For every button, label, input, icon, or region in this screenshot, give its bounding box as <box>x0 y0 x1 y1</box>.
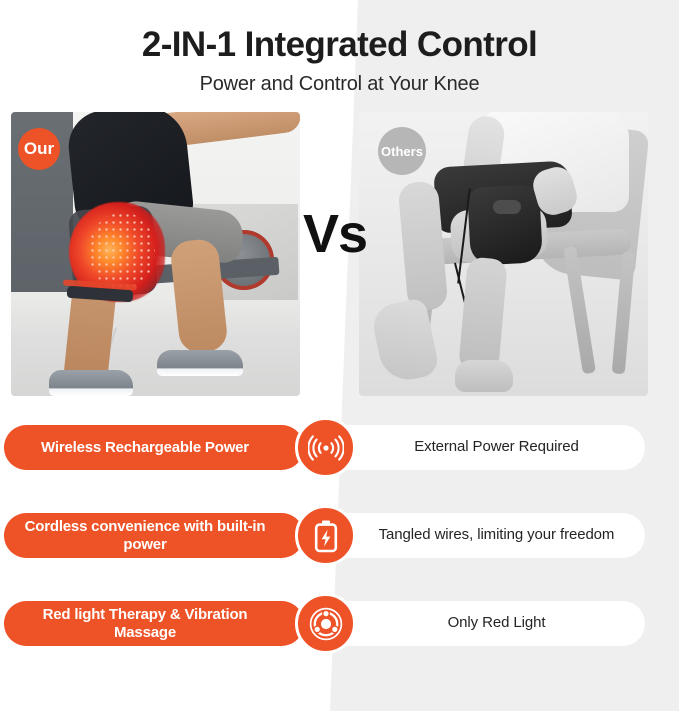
header: 2-IN-1 Integrated Control Power and Cont… <box>0 0 679 96</box>
our-feature-text: Wireless Rechargeable Power <box>41 439 249 457</box>
comparison-row: Wireless Rechargeable Power External Pow… <box>0 425 679 470</box>
battery-charging-icon <box>295 505 356 566</box>
our-badge: Our <box>18 128 60 170</box>
product-comparison-infographic: 2-IN-1 Integrated Control Power and Cont… <box>0 0 679 711</box>
vs-label: Vs <box>289 207 381 261</box>
our-feature-pill: Cordless convenience with built-in power <box>4 513 304 558</box>
others-feature-pill: Only Red Light <box>332 601 645 646</box>
comparison-row: Red light Therapy & Vibration Massage On… <box>0 601 679 646</box>
comparison-rows: Wireless Rechargeable Power External Pow… <box>0 425 679 689</box>
others-feature-pill: Tangled wires, limiting your freedom <box>332 513 645 558</box>
others-feature-pill: External Power Required <box>332 425 645 470</box>
wireless-signal-icon <box>295 417 356 478</box>
page-title: 2-IN-1 Integrated Control <box>0 27 679 64</box>
person-back-shoe <box>49 370 133 396</box>
person-right-foot <box>455 360 513 392</box>
our-feature-text: Cordless convenience with built-in power <box>20 518 270 554</box>
others-feature-text: External Power Required <box>414 438 578 457</box>
page-subtitle: Power and Control at Your Knee <box>0 73 679 96</box>
our-feature-text: Red light Therapy & Vibration Massage <box>20 606 270 642</box>
brace-control-pod <box>493 200 521 214</box>
led-dot-array <box>89 212 155 290</box>
others-badge: Others <box>378 127 426 175</box>
corded-knee-brace <box>467 184 543 266</box>
our-feature-pill: Red light Therapy & Vibration Massage <box>4 601 304 646</box>
others-feature-text: Tangled wires, limiting your freedom <box>379 526 615 545</box>
person-front-shoe <box>157 350 243 376</box>
comparison-row: Cordless convenience with built-in power… <box>0 513 679 558</box>
vibration-massage-icon <box>295 593 356 654</box>
person-right-shin <box>458 256 508 373</box>
our-feature-pill: Wireless Rechargeable Power <box>4 425 304 470</box>
others-feature-text: Only Red Light <box>448 614 546 633</box>
